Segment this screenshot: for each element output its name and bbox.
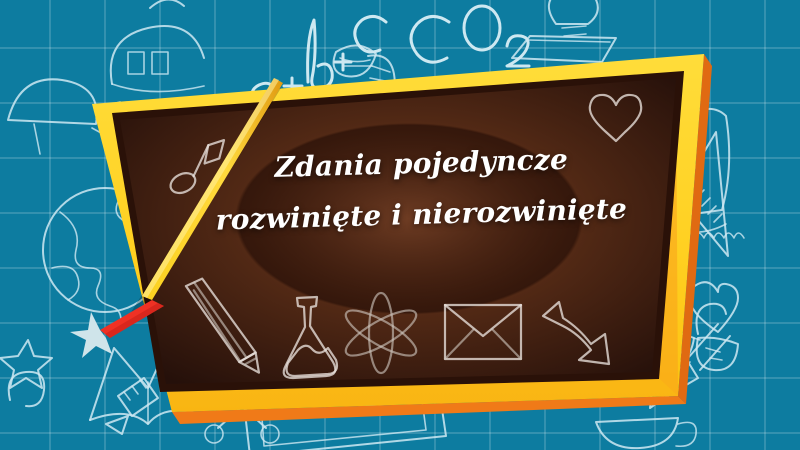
slide-canvas: Zdania pojedyncze rozwinięte i nierozwin… [0, 0, 800, 450]
board-surface [120, 78, 676, 384]
chalkboard-group [0, 0, 800, 450]
star-sparkle-icon [70, 312, 112, 358]
